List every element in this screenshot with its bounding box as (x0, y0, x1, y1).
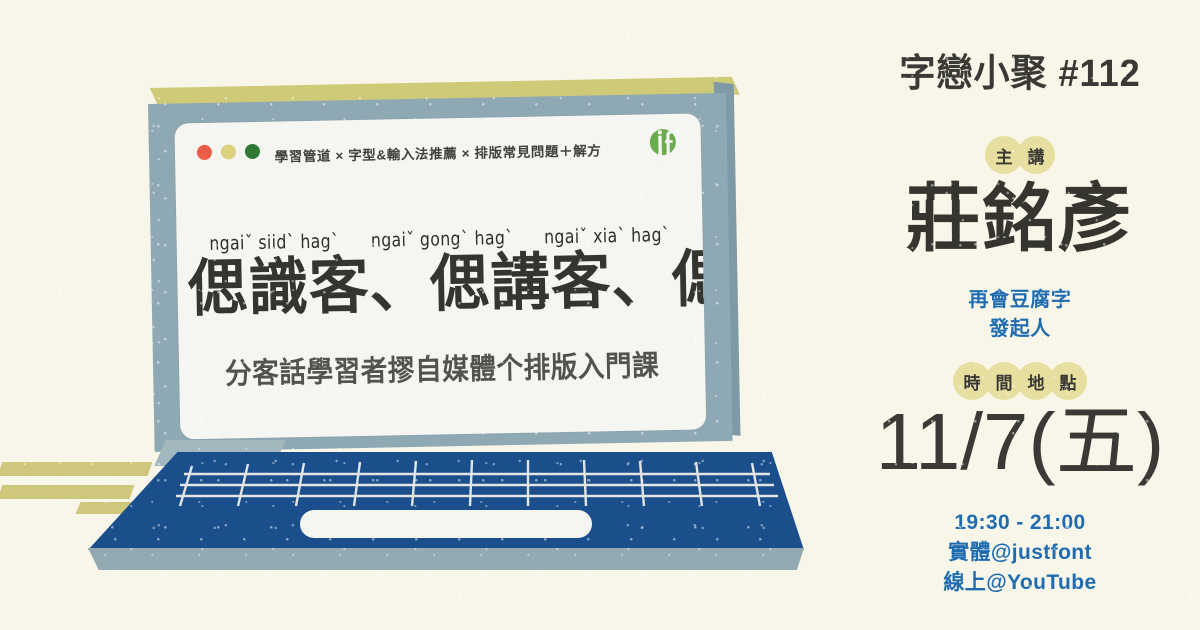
datetime-label-badge: 時 間 地 點 (840, 362, 1200, 400)
event-date: 11/7(五) (836, 402, 1200, 482)
screen-headline: 偲識客、偲講客、偲寫客 (188, 250, 694, 322)
laptop-lid: 學習管道 × 字型&輸入法推薦 × 排版常見問題＋解方 ngaiˇ siidˋ … (148, 93, 733, 456)
speaker-label-badge: 主 講 (840, 136, 1200, 174)
laptop-screen: 學習管道 × 字型&輸入法推薦 × 排版常見問題＋解方 ngaiˇ siidˋ … (174, 113, 706, 439)
speaker-role-line-2: 發起人 (840, 315, 1200, 344)
event-title: 字戀小聚 #112 (849, 42, 1191, 97)
speaker-name: 莊銘彥 (840, 182, 1200, 256)
event-time: 19:30 - 21:00 (840, 508, 1200, 538)
speaker-role: 再會豆腐字 發起人 (840, 286, 1200, 344)
speaker-badge-char-2: 講 (1017, 136, 1055, 174)
romanization-2: ngaiˇ gongˋ hagˋ (370, 227, 513, 252)
poster-canvas: 學習管道 × 字型&輸入法推薦 × 排版常見問題＋解方 ngaiˇ siidˋ … (0, 0, 1200, 630)
laptop-trackpad (300, 510, 592, 538)
venue-online: 線上@YouTube (840, 568, 1200, 598)
event-meta: 19:30 - 21:00 實體@justfont 線上@YouTube (840, 508, 1200, 597)
romanization-3: ngaiˇ xiaˋ hagˋ (543, 224, 669, 248)
laptop-base-front (88, 548, 804, 570)
romanization-1: ngaiˇ siidˋ hagˋ (210, 230, 340, 254)
event-info-panel: 字戀小聚 #112 主 講 莊銘彥 再會豆腐字 發起人 時 間 地 點 11/7… (840, 0, 1200, 630)
screen-topic-line: 學習管道 × 字型&輸入法推薦 × 排版常見問題＋解方 (175, 137, 701, 167)
venue-offline: 實體@justfont (840, 538, 1200, 568)
justfont-logo-icon (647, 128, 680, 169)
speaker-role-line-1: 再會豆腐字 (840, 286, 1200, 315)
cable-stripe-top (0, 462, 152, 476)
cable-stripe-bottom (0, 485, 134, 499)
datetime-badge-char-4: 點 (1049, 362, 1087, 400)
screen-subheadline: 分客話學習者摎自媒體个排版入門課 (200, 342, 685, 393)
laptop-illustration: 學習管道 × 字型&輸入法推薦 × 排版常見問題＋解方 ngaiˇ siidˋ … (0, 0, 840, 630)
